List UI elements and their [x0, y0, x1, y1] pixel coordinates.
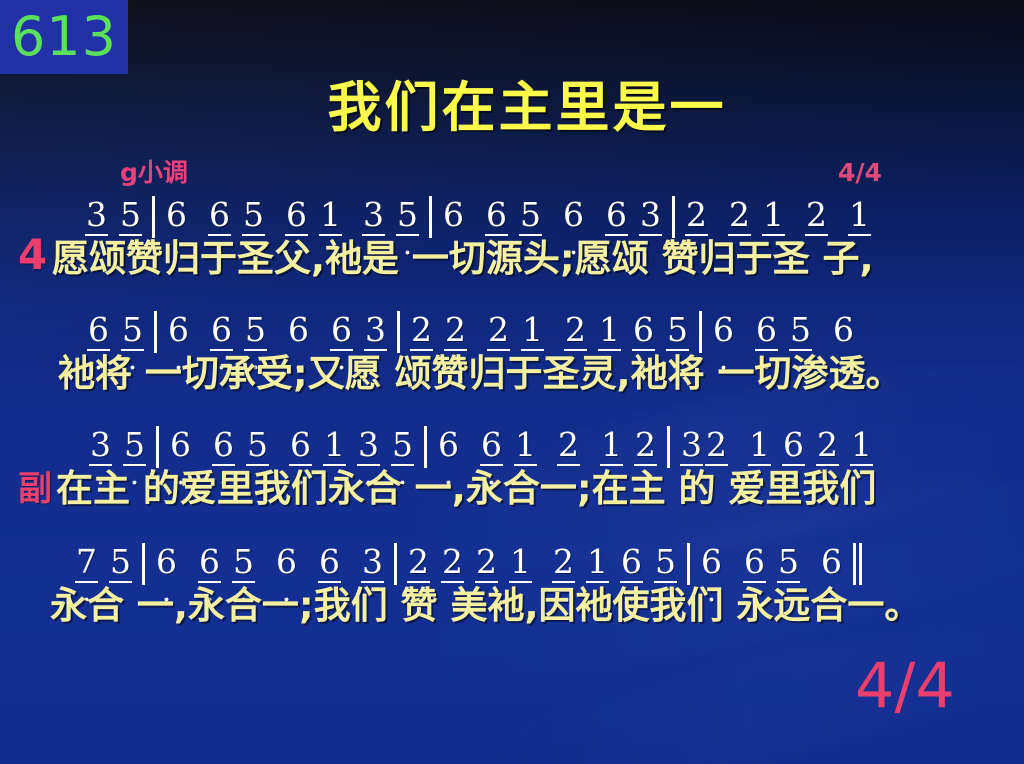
note: 5. — [788, 313, 813, 347]
barline — [687, 543, 690, 585]
note: 6. — [284, 198, 309, 232]
note: 6. — [329, 313, 354, 347]
lyrics-line: 愿颂赞归于圣父,衪是 一切源头;愿颂 赞归于圣 子, — [52, 238, 874, 280]
note: 2 — [474, 545, 499, 579]
barline — [394, 543, 397, 585]
note: 1 — [599, 428, 624, 462]
note: 6. — [781, 428, 806, 462]
slide-canvas: 613 我们在主里是一 g小调 4/4 4/4 4 3. 5. 6. 6. 5.… — [0, 0, 1024, 764]
note: 2 — [727, 198, 752, 232]
note: 6. — [166, 313, 191, 347]
note: 1 — [747, 428, 772, 462]
note: 2 — [440, 545, 465, 579]
note: 6. — [286, 313, 311, 347]
note: 3 — [363, 313, 388, 347]
note: 2 — [704, 428, 729, 462]
final-barline-2 — [859, 543, 862, 585]
note: 2 — [443, 313, 468, 347]
note: 5. — [665, 313, 690, 347]
note: 6. — [288, 428, 313, 462]
note: 1 — [508, 545, 533, 579]
note: 6. — [484, 198, 509, 232]
note: 5. — [118, 198, 143, 232]
note: 2 — [804, 198, 829, 232]
note: 6. — [831, 313, 856, 347]
note: 5. — [120, 313, 145, 347]
note: 2 — [409, 313, 434, 347]
note: 1 — [322, 428, 347, 462]
note: 6. — [754, 313, 779, 347]
note: 1 — [847, 198, 872, 232]
note: 3 — [638, 198, 663, 232]
note: 3 — [360, 545, 385, 579]
note: 5. — [108, 545, 133, 579]
barline — [142, 543, 145, 585]
lyrics-line: 衪将 一切承受;又愿 颂赞归于圣灵,衪将 一切渗透。 — [58, 353, 903, 395]
note: 7. — [74, 545, 99, 579]
note: 6. — [561, 198, 586, 232]
note: 6. — [819, 545, 844, 579]
note: 6. — [168, 428, 193, 462]
note: 3. — [84, 198, 109, 232]
note: 1 — [849, 428, 874, 462]
note: 5. — [245, 428, 270, 462]
barline — [672, 196, 675, 238]
hymn-number-badge: 613 — [0, 0, 128, 74]
note: 5. — [243, 313, 268, 347]
time-signature-top: 4/4 — [838, 160, 882, 185]
note: 1 — [761, 198, 786, 232]
note: 6. — [619, 545, 644, 579]
note: 6. — [207, 198, 232, 232]
barline — [699, 311, 702, 353]
note: 6. — [197, 545, 222, 579]
hymn-number: 613 — [11, 10, 117, 64]
note: 2 — [486, 313, 511, 347]
note: 2 — [406, 545, 431, 579]
chorus-label-marker: 副 — [18, 472, 52, 506]
note: 3. — [356, 428, 381, 462]
note: 2 — [684, 198, 709, 232]
note: 6. — [164, 198, 189, 232]
note: 1 — [597, 313, 622, 347]
note: 6. — [86, 313, 111, 347]
note: 2 — [551, 545, 576, 579]
note: 2 — [556, 428, 581, 462]
note: 6. — [699, 545, 724, 579]
verse-number-marker: 4 — [18, 234, 47, 276]
note: 6. — [154, 545, 179, 579]
barline — [424, 426, 427, 468]
note: 5. — [395, 198, 420, 232]
barline — [152, 196, 155, 238]
lyrics-line: 永合 一,永合一;我们 赞 美衪,因衪使我们 永远合一。 — [50, 585, 921, 627]
note: 6. — [211, 428, 236, 462]
note: 6. — [631, 313, 656, 347]
note: 5. — [653, 545, 678, 579]
note: 1 — [520, 313, 545, 347]
time-signature-bottom: 4/4 — [855, 655, 955, 717]
note: 6. — [604, 198, 629, 232]
note: 3 — [679, 428, 704, 462]
barline — [156, 426, 159, 468]
lyrics-line: 在主 的爱里我们永合 一,永合一;在主 的 爱里我们 — [56, 468, 876, 510]
note: 5. — [122, 428, 147, 462]
note: 2 — [815, 428, 840, 462]
note: 2 — [633, 428, 658, 462]
page-title: 我们在主里是一 — [0, 78, 1024, 138]
barline — [667, 426, 670, 468]
note: 2 — [563, 313, 588, 347]
note: 5. — [518, 198, 543, 232]
note: 6. — [274, 545, 299, 579]
note: 1 — [585, 545, 610, 579]
note: 6. — [209, 313, 234, 347]
note: 5. — [241, 198, 266, 232]
note: 6. — [441, 198, 466, 232]
note: 5. — [776, 545, 801, 579]
note: 3. — [88, 428, 113, 462]
note: 1 — [513, 428, 538, 462]
barline — [397, 311, 400, 353]
note: 3. — [361, 198, 386, 232]
key-signature-label: g小调 — [120, 160, 188, 185]
final-barline — [853, 543, 856, 585]
note: 6. — [436, 428, 461, 462]
note: 6. — [742, 545, 767, 579]
note: 1 — [318, 198, 343, 232]
note: 5. — [231, 545, 256, 579]
barline — [429, 196, 432, 238]
note: 6. — [711, 313, 736, 347]
note: 5. — [390, 428, 415, 462]
barline — [154, 311, 157, 353]
note: 6. — [317, 545, 342, 579]
note: 6. — [479, 428, 504, 462]
